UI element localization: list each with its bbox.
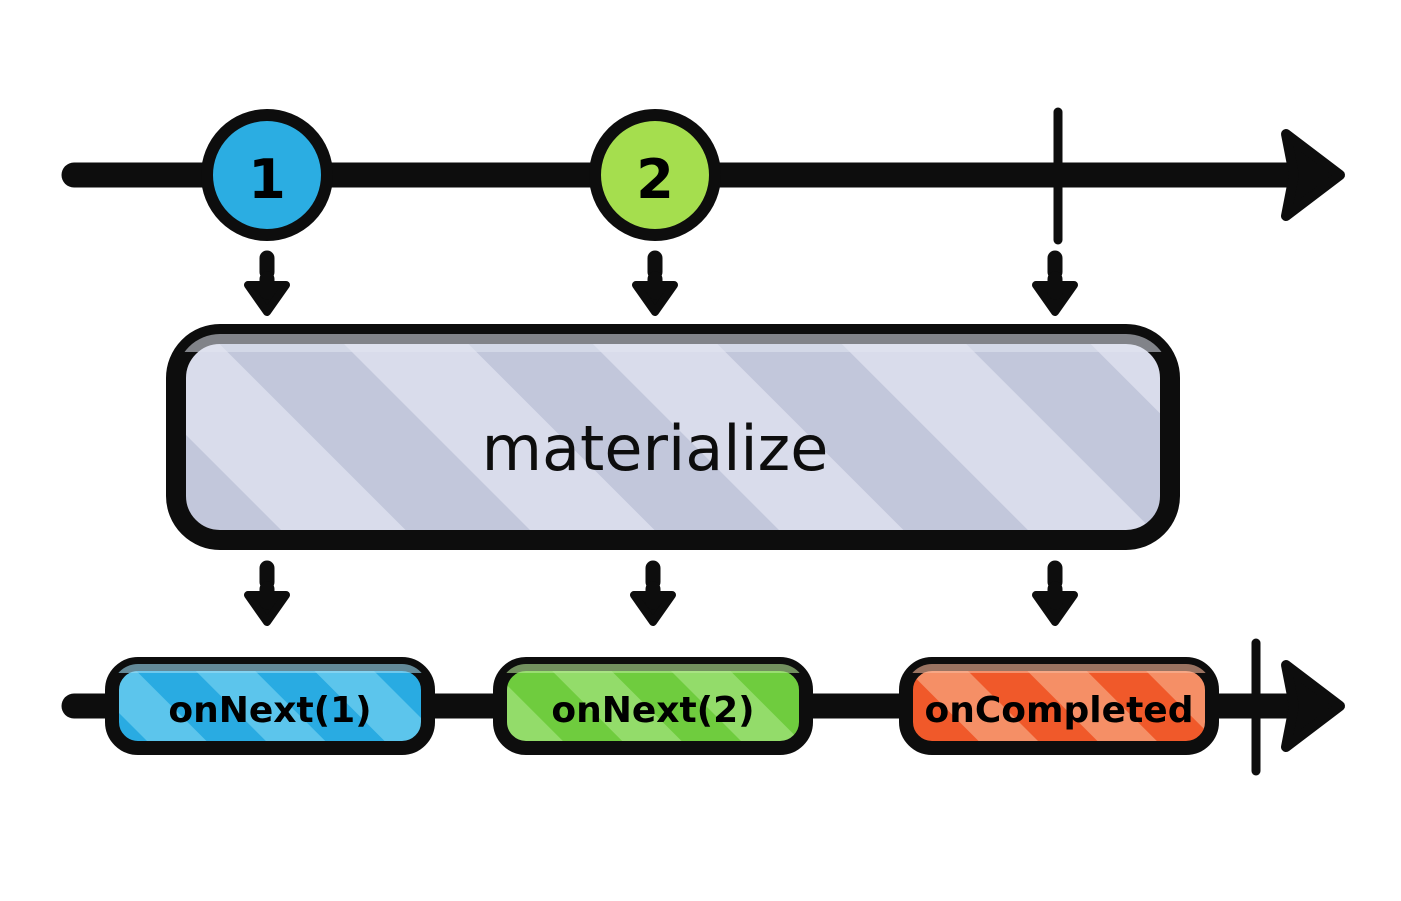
result-notification-onnext-1-sheen xyxy=(112,664,428,673)
operator-box[interactable]: materialize xyxy=(176,334,1170,540)
result-notification-onnext-1[interactable]: onNext(1) xyxy=(112,664,428,748)
source-marble-2-label: 2 xyxy=(636,148,674,211)
result-notification-onnext-2-sheen xyxy=(500,664,806,673)
result-notification-oncompleted[interactable]: onCompleted xyxy=(906,664,1212,748)
result-notification-onnext-2[interactable]: onNext(2) xyxy=(500,664,806,748)
operator-box-sheen xyxy=(176,334,1170,352)
source-timeline-arrowhead xyxy=(1286,134,1340,216)
source-marble-1[interactable]: 1 xyxy=(207,115,327,235)
source-marble-1-label: 1 xyxy=(248,148,286,211)
marble-diagram-canvas: 1 2 xyxy=(0,0,1401,901)
operator-box-label: materialize xyxy=(482,412,829,485)
result-notification-oncompleted-label: onCompleted xyxy=(925,690,1194,731)
marble-diagram-svg: 1 2 xyxy=(0,0,1401,901)
source-observable-timeline: 1 2 xyxy=(74,112,1340,240)
result-notification-onnext-1-label: onNext(1) xyxy=(168,690,371,731)
result-notification-onnext-2-label: onNext(2) xyxy=(551,690,754,731)
connector-down-4-icon xyxy=(248,568,286,622)
result-observable-timeline: onNext(1) onNext(2) onCompleted xyxy=(74,643,1340,771)
source-marble-2[interactable]: 2 xyxy=(595,115,715,235)
connectors-operator-to-result xyxy=(248,568,1074,622)
connector-down-6-icon xyxy=(1036,568,1074,622)
connector-down-1-icon xyxy=(248,258,286,312)
result-timeline-arrowhead xyxy=(1286,665,1340,747)
result-notification-oncompleted-sheen xyxy=(906,664,1212,673)
connector-down-5-icon xyxy=(634,568,672,622)
connectors-source-to-operator xyxy=(248,258,1074,312)
connector-down-2-icon xyxy=(636,258,674,312)
connector-down-3-icon xyxy=(1036,258,1074,312)
